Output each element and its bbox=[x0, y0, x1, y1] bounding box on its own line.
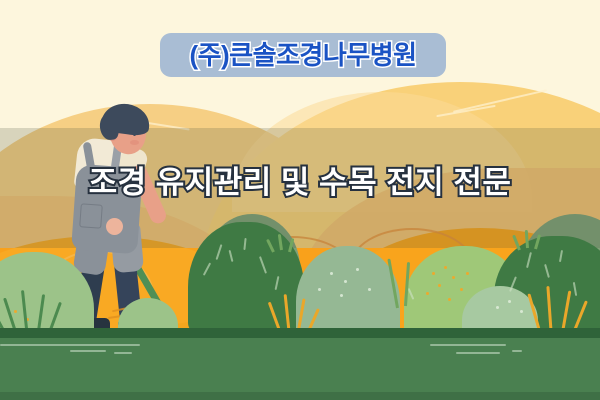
bush-speck-icon bbox=[356, 268, 359, 271]
bush-dot-icon bbox=[466, 272, 469, 275]
ground bbox=[0, 328, 600, 400]
bush-speck-icon bbox=[520, 310, 523, 313]
bush-speck-icon bbox=[318, 288, 321, 291]
bush-dot-icon bbox=[444, 266, 447, 269]
bush-dot-icon bbox=[452, 276, 455, 279]
bush-speck-icon bbox=[368, 288, 371, 291]
ground-dash-icon bbox=[70, 350, 106, 352]
ground-edge-top bbox=[0, 328, 600, 338]
bush-dot-icon bbox=[14, 310, 17, 313]
company-name-text: (주)큰솔조경나무병원 bbox=[189, 42, 416, 68]
company-name-badge: (주)큰솔조경나무병원 bbox=[160, 33, 446, 77]
bush-speck-icon bbox=[330, 272, 333, 275]
bush-dot-icon bbox=[432, 272, 435, 275]
ground-dash-icon bbox=[0, 344, 140, 346]
ground-dash-icon bbox=[114, 352, 132, 354]
headline: 조경 유지관리 및 수목 전지 전문 bbox=[0, 166, 600, 200]
landscaping-banner: (주)큰솔조경나무병원 조경 유지관리 및 수목 전지 전문 bbox=[0, 0, 600, 400]
bush-speck-icon bbox=[344, 280, 347, 283]
bush-speck-icon bbox=[340, 294, 343, 297]
headline-text: 조경 유지관리 및 수목 전지 전문 bbox=[89, 166, 512, 200]
bush-dot-icon bbox=[426, 292, 429, 295]
ground-edge-bottom bbox=[0, 392, 600, 400]
bush-dot-icon bbox=[438, 284, 441, 287]
ground-dash-icon bbox=[456, 352, 500, 354]
ground-dash-icon bbox=[430, 344, 506, 346]
bush-dot-icon bbox=[460, 288, 463, 291]
ground-dash-icon bbox=[512, 350, 522, 352]
bush-speck-icon bbox=[508, 300, 511, 303]
bush-dot-icon bbox=[448, 298, 451, 301]
worker-hand bbox=[106, 218, 123, 235]
worker-blush bbox=[130, 140, 139, 145]
bush-speck-icon bbox=[496, 306, 499, 309]
worker-pocket bbox=[79, 203, 103, 228]
